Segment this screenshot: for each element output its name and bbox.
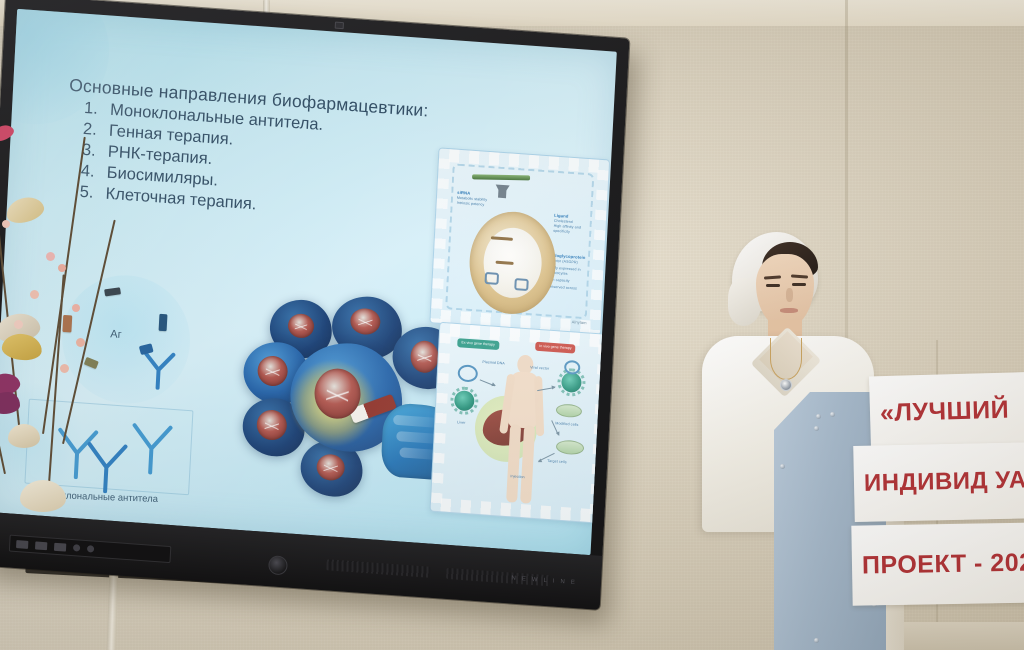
banner-line: ПРОЕКТ - 202 (851, 522, 1024, 605)
diagram-tag-in-vivo: In vivo gene therapy (535, 342, 576, 354)
flower-bud (46, 252, 55, 261)
flow-arrow-icon (480, 379, 495, 386)
diagram-note: Target cells (547, 459, 567, 465)
gene-therapy-diagram: Ex vivo gene therapy In vivo gene therap… (429, 322, 611, 524)
diagram-note: Modified cells (555, 421, 578, 428)
diagram-tag-ex-vivo: Ex vivo gene therapy (457, 338, 499, 350)
flower-bud (60, 364, 69, 373)
sirna-duplex-icon (472, 174, 530, 180)
diagram-label-heading: Ligand (554, 213, 569, 219)
banner-line: «ЛУЧШИЙ (869, 372, 1024, 451)
dried-flower-arrangement (0, 124, 126, 544)
diagram-label-line: specificity (553, 229, 570, 235)
mouth (780, 308, 798, 313)
flower-petal (0, 122, 16, 144)
list-item-number: 1. (84, 98, 100, 120)
diagram-note: Plasmid DNA (482, 360, 505, 367)
speaker-grille (326, 559, 430, 577)
flower-bud (72, 304, 80, 312)
cell-receptor-diagram: siRNA Metabolic stability Intrinsic pote… (429, 147, 610, 335)
flower-petal (8, 424, 40, 448)
down-arrow-icon (495, 184, 510, 197)
flower-bud (14, 320, 23, 329)
antibody-icon (136, 342, 184, 391)
diagram-note: Injection (510, 474, 525, 480)
antibody-icon (122, 415, 185, 477)
human-body-figure (497, 354, 547, 507)
face (756, 254, 814, 328)
epitope-marker (159, 314, 168, 332)
event-banner: «ЛУЧШИЙ ИНДИВИД УАЛЬ ПРОЕКТ - 202 (852, 374, 1024, 632)
flower-bud (2, 220, 10, 228)
culture-dish-icon (556, 403, 583, 418)
diagram-note: Liver (457, 420, 466, 426)
flower-petal (3, 193, 46, 227)
flower-bud (58, 264, 66, 272)
necklace-pendant (780, 379, 792, 391)
flower-bud (30, 290, 39, 299)
flower-bud (76, 338, 85, 347)
cell-cluster-illustration (237, 288, 463, 518)
viral-vector-icon (561, 372, 582, 393)
eye (766, 284, 780, 287)
necklace-chain (770, 338, 802, 380)
flower-petal (20, 480, 66, 512)
headphone-jack-icon[interactable] (268, 555, 288, 575)
ir-sensor-icon (335, 22, 344, 30)
diagram-watermark: Alnylam (572, 319, 587, 325)
viral-vector-icon (454, 390, 475, 411)
banner-line: ИНДИВИД УАЛЬ (853, 442, 1024, 522)
eye (792, 283, 806, 286)
nose (786, 288, 793, 302)
plasmid-icon (457, 364, 478, 382)
diagram-label-heading: siRNA (457, 190, 470, 196)
room-scene: Основные направления биофармацевтики: 1.… (0, 0, 1024, 650)
culture-dish-icon (556, 439, 585, 455)
flower-petal (1, 332, 43, 362)
